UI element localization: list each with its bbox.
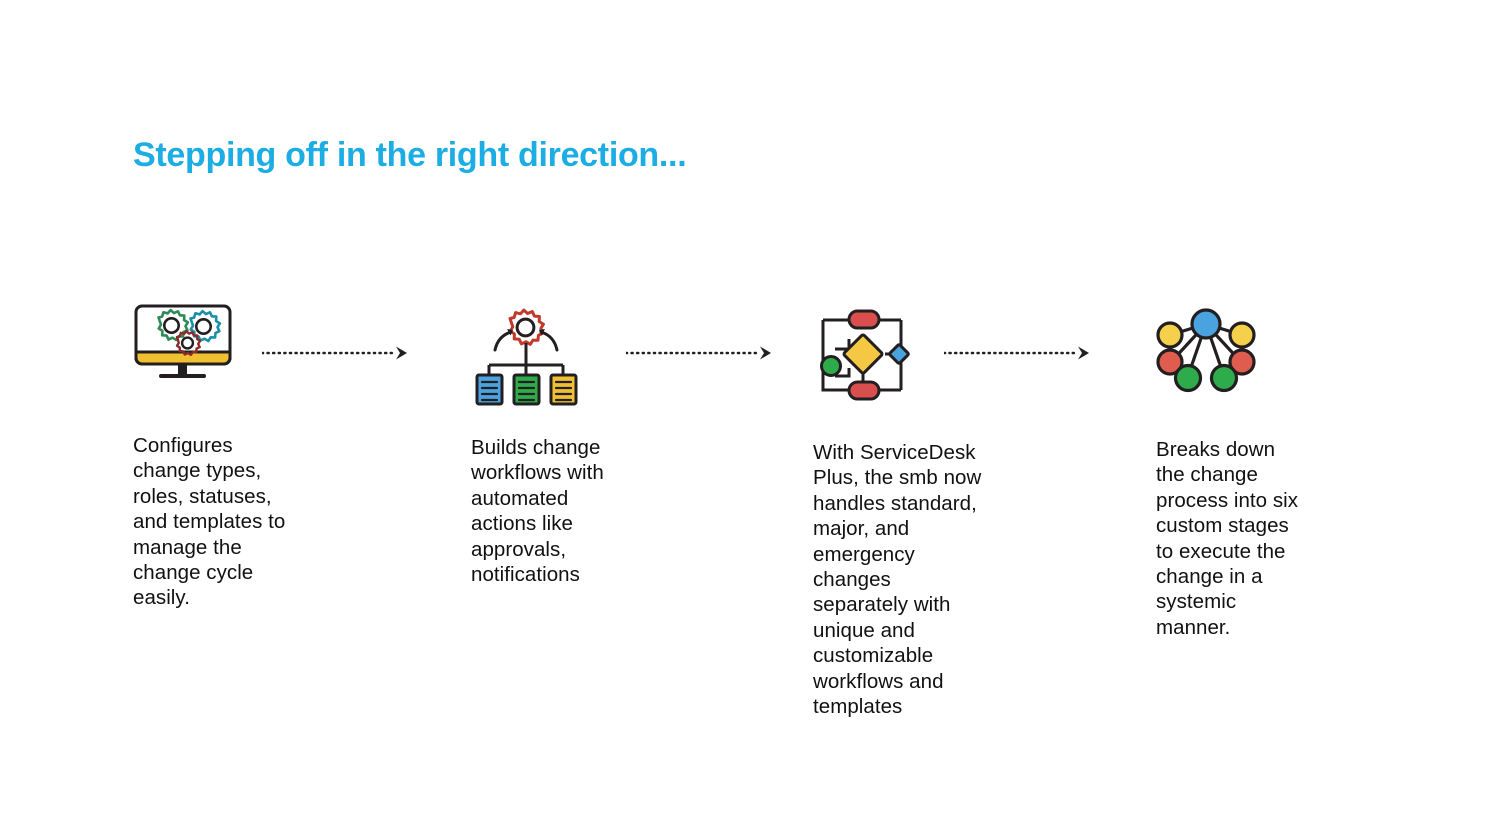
step-description: Breaks down the change process into six … xyxy=(1156,437,1308,640)
step-description: Builds change workflows with automated a… xyxy=(471,435,631,587)
connector-arrow-2 xyxy=(626,345,776,361)
connector-arrow-1 xyxy=(262,345,412,361)
hub-and-spoke-nodes-icon xyxy=(1156,300,1331,412)
page-title: Stepping off in the right direction... xyxy=(133,136,686,175)
slide-canvas: Stepping off in the right direction... xyxy=(0,0,1500,833)
step-workflows: Builds change workflows with automated a… xyxy=(471,300,646,587)
gear-with-documents-icon xyxy=(471,300,646,410)
step-change-types: With ServiceDesk Plus, the smb now handl… xyxy=(813,300,988,719)
step-description: With ServiceDesk Plus, the smb now handl… xyxy=(813,440,988,719)
step-description: Configures change types, roles, statuses… xyxy=(133,433,293,611)
step-stages: Breaks down the change process into six … xyxy=(1156,300,1331,640)
process-steps-row: Configures change types, roles, statuses… xyxy=(0,300,1500,780)
connector-arrow-3 xyxy=(944,345,1094,361)
